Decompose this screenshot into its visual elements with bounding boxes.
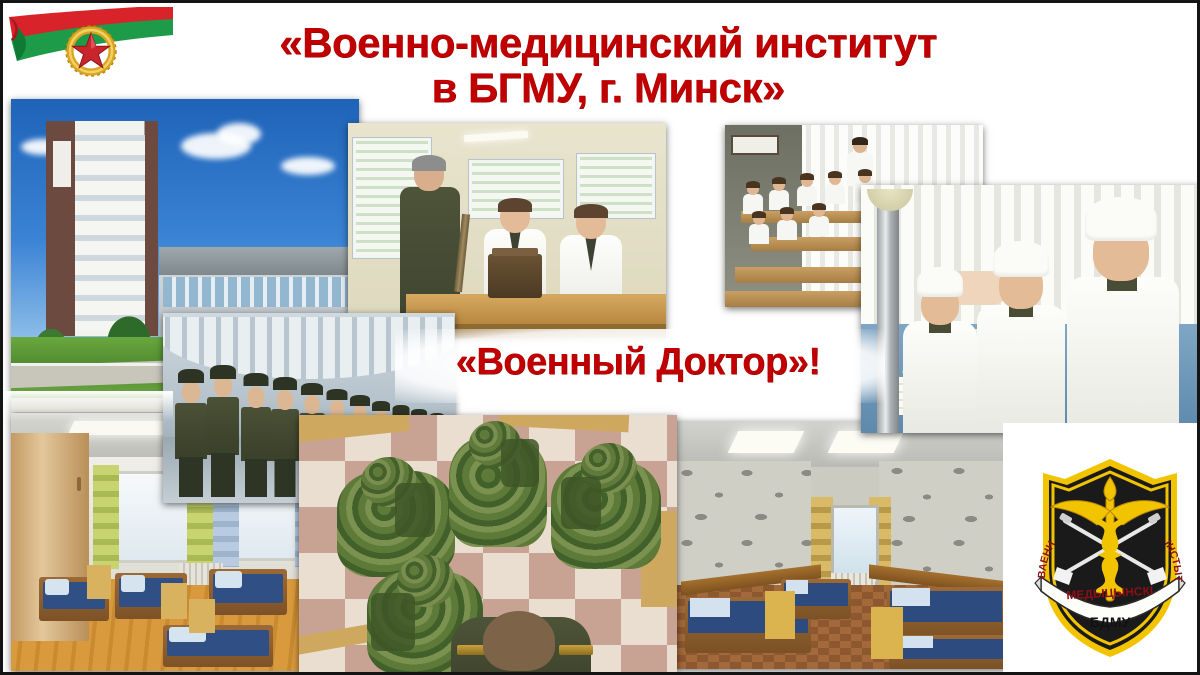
photo-lab-officer-students (348, 123, 666, 338)
military-medical-institute-crest-icon: ВАЕННА- ІНСТЫТУТ МЕДЫЦЫНСКІ БДМУ (1027, 455, 1193, 661)
page-title-line1: «Военно-медицинский институт (163, 21, 1053, 66)
subtitle: «Военный Доктор»! (403, 343, 873, 381)
page-title: «Военно-медицинский институт в БГМУ, г. … (163, 21, 1053, 110)
photo-dormitory-room-2 (675, 421, 1015, 669)
belarus-flag-star-icon (7, 7, 175, 93)
photo-field-training (299, 415, 677, 673)
photo-suturing-practice (861, 185, 1200, 433)
emblem-ribbon-bottom: БДМУ (1090, 614, 1131, 630)
slide-root: «Военно-медицинский институт в БГМУ, г. … (0, 0, 1200, 675)
